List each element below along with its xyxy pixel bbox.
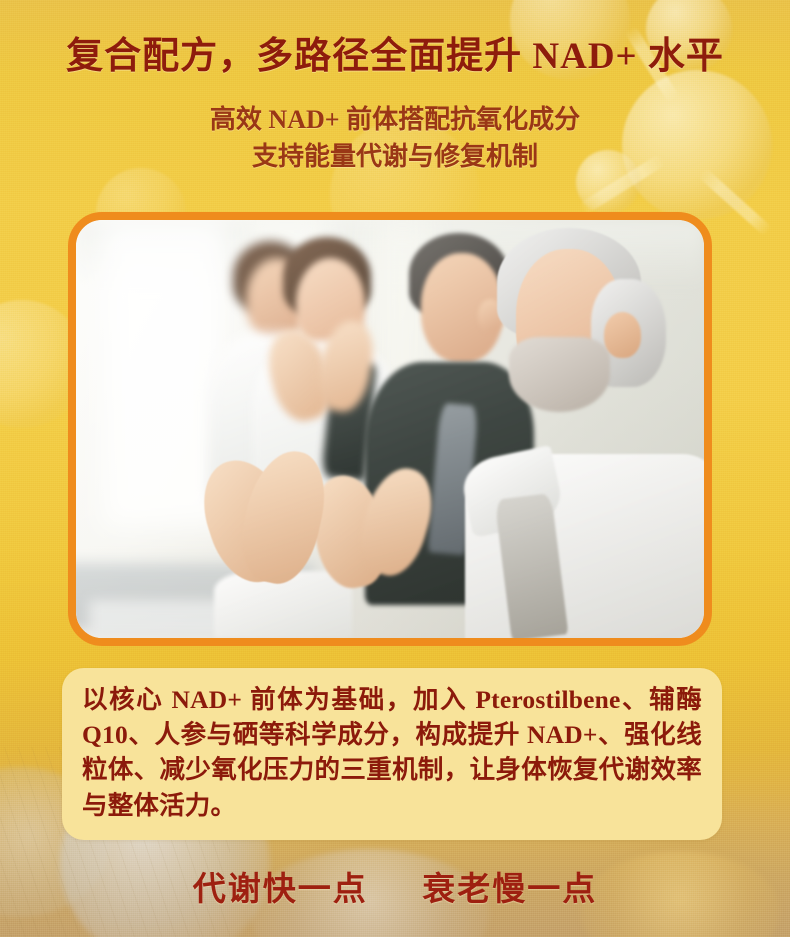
tagline-left: 代谢快一点 <box>193 872 368 908</box>
tagline-right: 衰老慢一点 <box>422 872 597 908</box>
page-title: 复合配方，多路径全面提升 NAD+ 水平 <box>0 0 790 80</box>
description-text: 以核心 NAD+ 前体为基础，加入 Pterostilbene、辅酶 Q10、人… <box>82 682 702 823</box>
description-panel: 以核心 NAD+ 前体为基础，加入 Pterostilbene、辅酶 Q10、人… <box>62 668 722 840</box>
molecule-bond-icon <box>698 167 773 236</box>
header-block: 复合配方，多路径全面提升 NAD+ 水平 高效 NAD+ 前体搭配抗氧化成分 支… <box>0 0 790 176</box>
photo-overlay <box>76 220 704 638</box>
tagline: 代谢快一点 衰老慢一点 <box>0 862 790 910</box>
subtitle-line-2: 支持能量代谢与修复机制 <box>0 139 790 176</box>
promo-page: 复合配方，多路径全面提升 NAD+ 水平 高效 NAD+ 前体搭配抗氧化成分 支… <box>0 0 790 937</box>
photo-card <box>68 212 712 646</box>
audience-photo <box>76 220 704 638</box>
subtitle-line-1: 高效 NAD+ 前体搭配抗氧化成分 <box>0 80 790 139</box>
